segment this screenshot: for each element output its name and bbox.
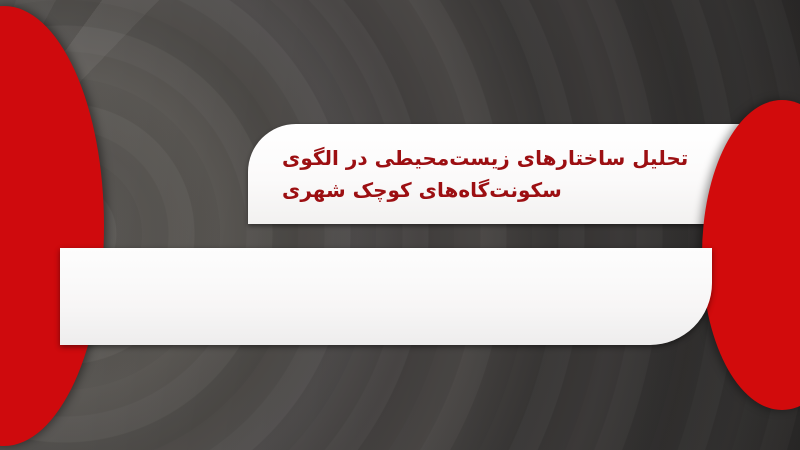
- slide-title: تحلیل ساختارهای زیست‌محیطی در الگوی سکون…: [282, 124, 758, 224]
- presentation-slide: تحلیل ساختارهای زیست‌محیطی در الگوی سکون…: [0, 0, 800, 450]
- title-line-1: تحلیل ساختارهای زیست‌محیطی در الگوی: [282, 142, 688, 174]
- background-vignette: [0, 0, 800, 450]
- title-line-2: سکونت‌گاه‌های کوچک شهری: [282, 174, 562, 206]
- subtitle-plaque[interactable]: [60, 248, 712, 345]
- slide-subtitle[interactable]: [60, 248, 712, 345]
